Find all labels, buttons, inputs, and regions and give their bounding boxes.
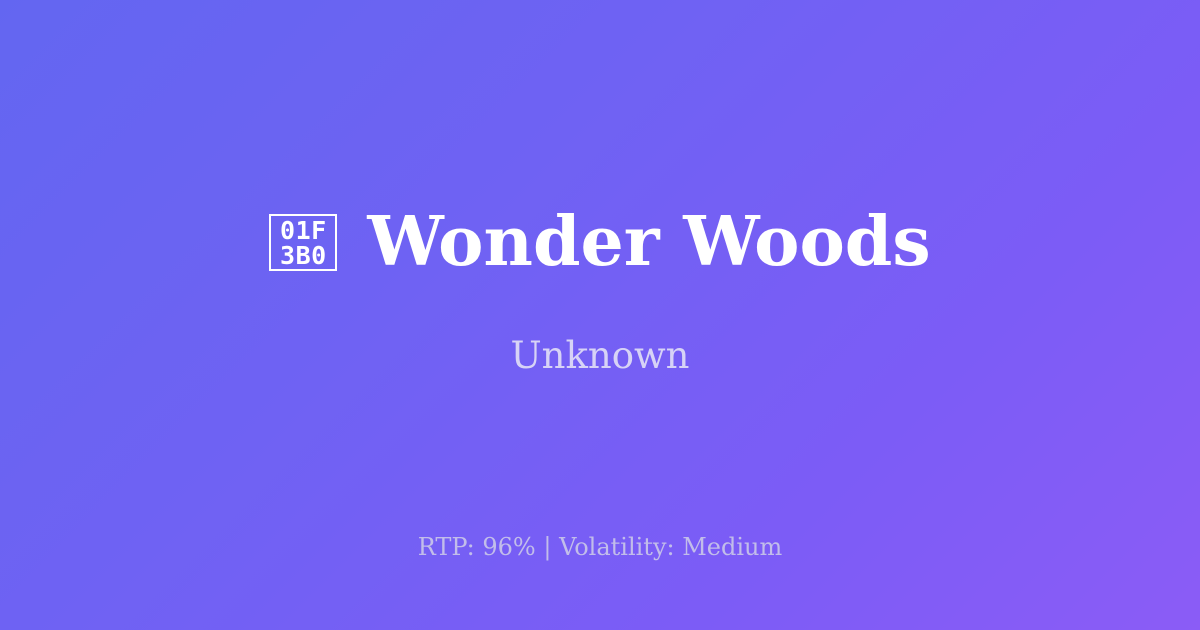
title-row: 01F 3B0 Wonder Woods [0,206,1200,278]
slot-machine-icon: 01F 3B0 [269,214,337,271]
tofu-codepoint-top: 01F [280,218,327,243]
page-title: Wonder Woods [367,206,930,278]
footer-stats: RTP: 96% | Volatility: Medium [0,533,1200,562]
provider-subtitle: Unknown [510,334,689,378]
og-card: 01F 3B0 Wonder Woods Unknown RTP: 96% | … [0,0,1200,630]
hero-block: 01F 3B0 Wonder Woods Unknown [0,206,1200,378]
tofu-codepoint-bottom: 3B0 [280,243,327,268]
stats-text: RTP: 96% | Volatility: Medium [418,533,783,561]
